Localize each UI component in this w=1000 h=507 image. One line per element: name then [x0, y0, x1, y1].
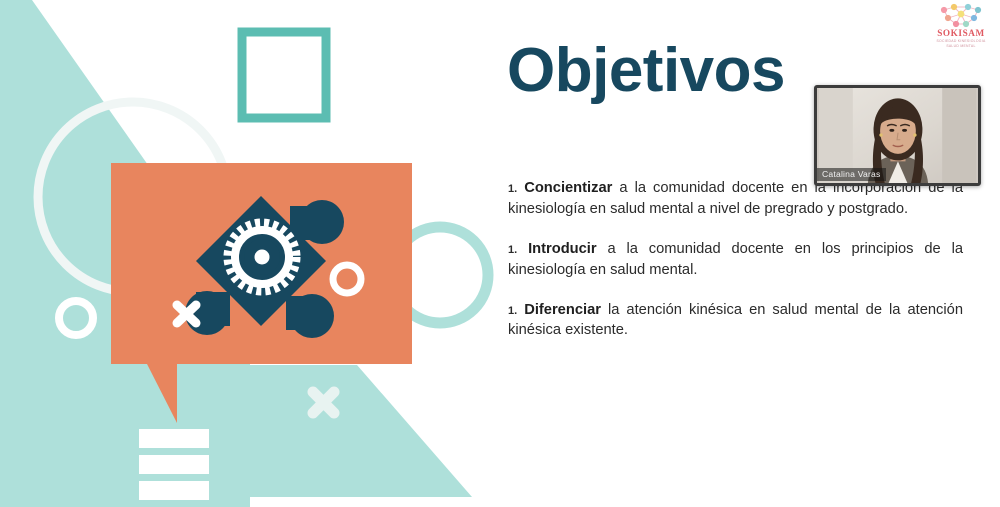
objective-keyword: Diferenciar — [524, 302, 601, 318]
white-menu-bars — [139, 429, 209, 500]
participant-video-tile[interactable]: Catalina Varas — [814, 85, 981, 186]
slide-content-panel: SOKISAM SOCIEDAD KINESIOLOGIA SALUD MENT… — [500, 0, 1000, 507]
objective-item: 1. Diferenciar la atención kinésica en s… — [508, 300, 963, 342]
objectives-list: 1. Concientizar a la comunidad docente e… — [508, 178, 963, 341]
objective-number: 1. — [508, 244, 517, 256]
decorative-illustration — [0, 0, 500, 507]
teal-square-outline — [242, 32, 326, 118]
page-title: Objetivos — [507, 40, 785, 102]
objective-item: 1. Introducir a la comunidad docente en … — [508, 239, 963, 281]
slide-stage: SOKISAM SOCIEDAD KINESIOLOGIA SALUD MENT… — [0, 0, 1000, 507]
objective-number: 1. — [508, 183, 517, 195]
sokisam-logo: SOKISAM SOCIEDAD KINESIOLOGIA SALUD MENT… — [930, 3, 992, 47]
logo-tagline: SOCIEDAD KINESIOLOGIA SALUD MENTAL — [930, 39, 992, 49]
objective-number: 1. — [508, 305, 517, 317]
objective-keyword: Introducir — [528, 241, 597, 257]
pale-x-mark — [313, 392, 334, 413]
decorative-graphic-panel — [0, 0, 500, 507]
participant-name-label: Catalina Varas — [817, 168, 886, 181]
logo-wordmark: SOKISAM — [930, 29, 992, 38]
objective-keyword: Concientizar — [524, 180, 612, 196]
logo-network-icon — [930, 3, 992, 29]
